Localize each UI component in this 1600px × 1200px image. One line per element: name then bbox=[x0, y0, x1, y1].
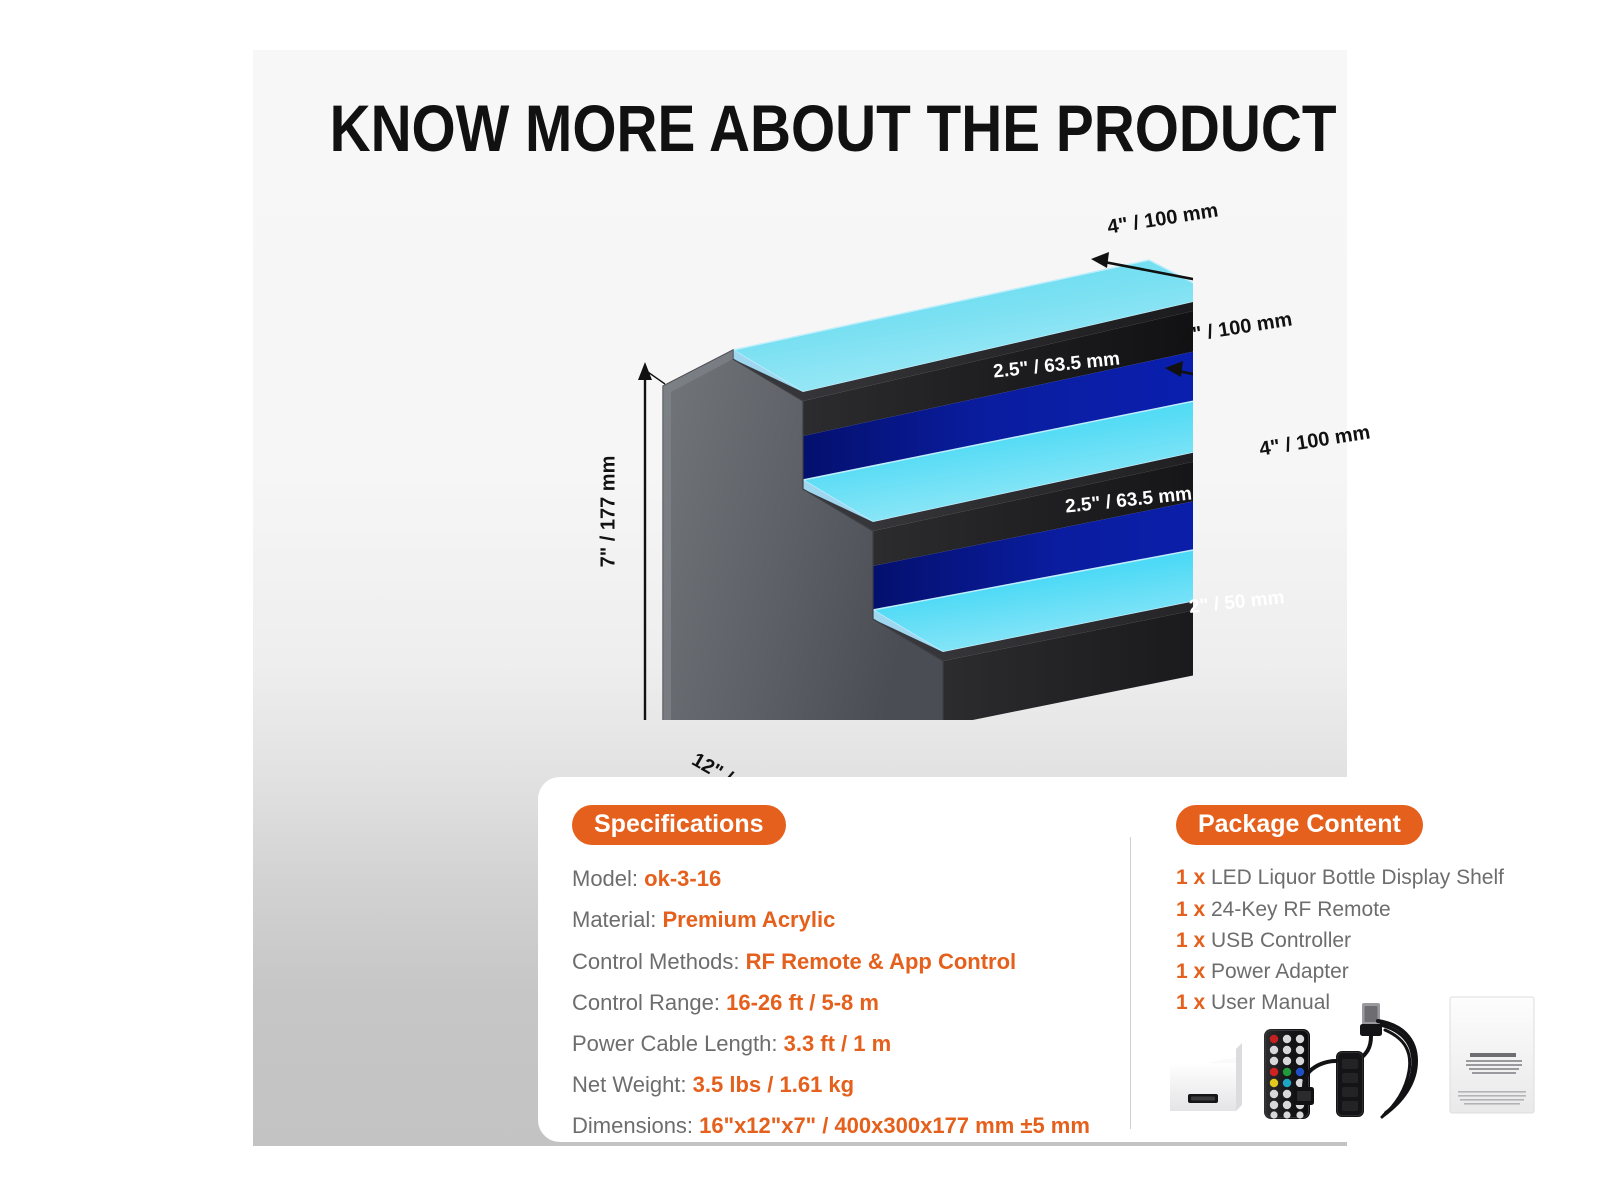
package-content-section: Package Content 1 x LED Liquor Bottle Di… bbox=[1130, 805, 1504, 1122]
spec-value: 16-26 ft / 5-8 m bbox=[726, 990, 879, 1015]
column-divider bbox=[1130, 837, 1131, 1129]
power-adapter-image bbox=[1170, 1043, 1242, 1111]
spec-row: Control Methods: RF Remote & App Control bbox=[572, 950, 1130, 974]
spec-label: Model: bbox=[572, 866, 638, 891]
spec-label: Control Methods: bbox=[572, 949, 740, 974]
user-manual-image bbox=[1450, 997, 1534, 1113]
spec-row: Model: ok-3-16 bbox=[572, 867, 1130, 891]
spec-row: Control Range: 16-26 ft / 5-8 m bbox=[572, 991, 1130, 1015]
rf-remote-image bbox=[1264, 1029, 1310, 1119]
product-diagram: 4" / 100 mm 4" / 100 mm 4" / 100 mm 7" /… bbox=[433, 200, 1193, 720]
infographic-canvas: KNOW MORE ABOUT THE PRODUCT bbox=[0, 0, 1600, 1200]
dim-base-riser: 2" / 50 mm bbox=[1188, 587, 1285, 619]
spec-row: Net Weight: 3.5 lbs / 1.61 kg bbox=[572, 1073, 1130, 1097]
spec-row: Dimensions: 16"x12"x7" / 400x300x177 mm … bbox=[572, 1114, 1130, 1138]
spec-value: ok-3-16 bbox=[644, 866, 721, 891]
item-qty: 1 x bbox=[1176, 866, 1205, 889]
content-panel: KNOW MORE ABOUT THE PRODUCT bbox=[253, 50, 1347, 1146]
info-card: Specifications Model: ok-3-16 Material: … bbox=[538, 777, 1538, 1142]
list-item: 1 x 24-Key RF Remote bbox=[1176, 897, 1504, 923]
usb-controller-image bbox=[1294, 1003, 1416, 1117]
item-qty: 1 x bbox=[1176, 929, 1205, 952]
page-title: KNOW MORE ABOUT THE PRODUCT bbox=[330, 90, 1271, 166]
item-qty: 1 x bbox=[1176, 898, 1205, 921]
specifications-section: Specifications Model: ok-3-16 Material: … bbox=[572, 805, 1130, 1122]
package-content-images bbox=[1164, 991, 1540, 1119]
item-name: Power Adapter bbox=[1211, 960, 1349, 983]
item-qty: 1 x bbox=[1176, 960, 1205, 983]
spec-value: RF Remote & App Control bbox=[746, 949, 1017, 974]
spec-label: Dimensions: bbox=[572, 1113, 693, 1138]
specifications-badge: Specifications bbox=[572, 805, 786, 845]
spec-label: Power Cable Length: bbox=[572, 1031, 777, 1056]
dim-bottom-depth: 4" / 100 mm bbox=[1258, 421, 1372, 461]
spec-value: 3.3 ft / 1 m bbox=[784, 1031, 892, 1056]
spec-label: Material: bbox=[572, 907, 656, 932]
list-item: 1 x Power Adapter bbox=[1176, 959, 1504, 985]
spec-row: Power Cable Length: 3.3 ft / 1 m bbox=[572, 1032, 1130, 1056]
spec-row: Material: Premium Acrylic bbox=[572, 908, 1130, 932]
spec-label: Net Weight: bbox=[572, 1072, 687, 1097]
spec-value: 16"x12"x7" / 400x300x177 mm ±5 mm bbox=[699, 1113, 1090, 1138]
list-item: 1 x LED Liquor Bottle Display Shelf bbox=[1176, 865, 1504, 891]
item-name: LED Liquor Bottle Display Shelf bbox=[1211, 866, 1504, 889]
dim-height: 7" / 177 mm bbox=[597, 456, 620, 568]
item-name: USB Controller bbox=[1211, 929, 1351, 952]
list-item: 1 x USB Controller bbox=[1176, 928, 1504, 954]
spec-label: Control Range: bbox=[572, 990, 720, 1015]
dim-mid-depth: 4" / 100 mm bbox=[1180, 308, 1294, 348]
specifications-list: Model: ok-3-16 Material: Premium Acrylic… bbox=[572, 867, 1130, 1138]
spec-value: 3.5 lbs / 1.61 kg bbox=[693, 1072, 854, 1097]
spec-value: Premium Acrylic bbox=[662, 907, 835, 932]
item-name: 24-Key RF Remote bbox=[1211, 898, 1391, 921]
package-content-badge: Package Content bbox=[1176, 805, 1423, 845]
